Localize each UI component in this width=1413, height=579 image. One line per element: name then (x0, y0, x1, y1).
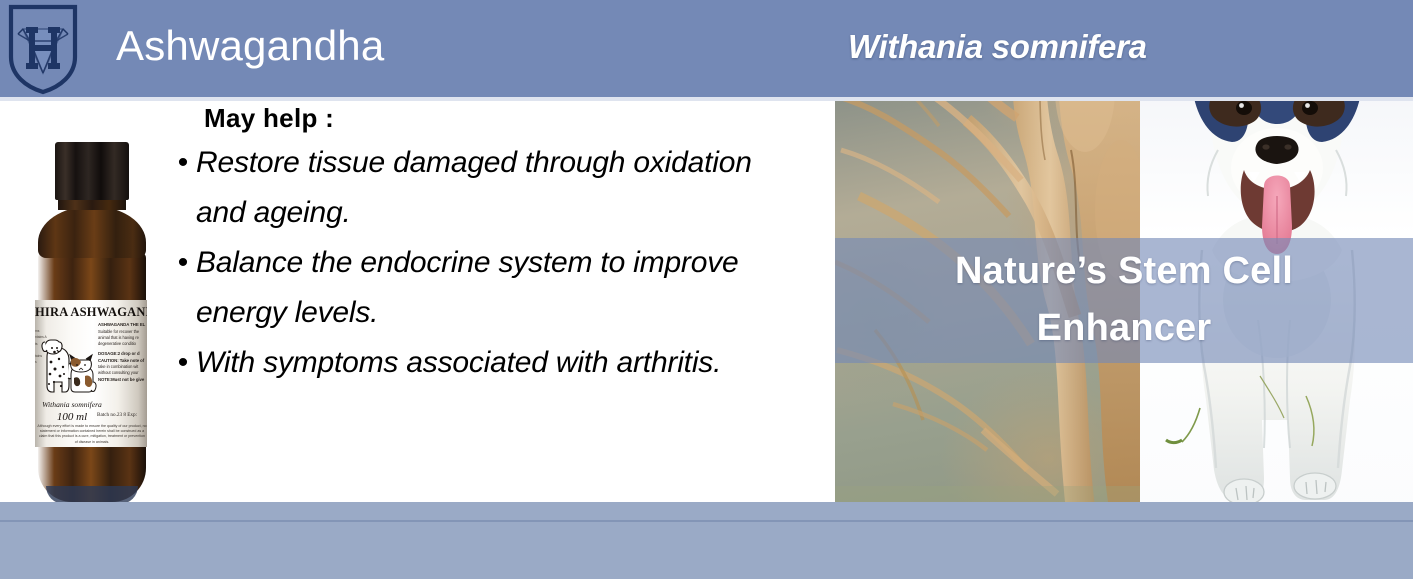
label-directions-line: ASHWAGANDA THE EL (98, 322, 147, 329)
bullet-dot-icon: • (170, 238, 196, 288)
tagline-line-2: Enhancer (835, 300, 1413, 357)
bullet-dot-icon: • (170, 138, 196, 188)
list-item: • Restore tissue damaged through oxidati… (170, 138, 790, 238)
page-title: Ashwagandha (116, 22, 384, 70)
list-item-label: With symptoms associated with arthritis. (196, 338, 790, 388)
label-species: Withania somnifera (37, 400, 107, 409)
product-bottle: HIRA ASHWAGANDA ms ntains A ts tains s (36, 142, 148, 502)
label-directions-block: ASHWAGANDA THE EL Suitable for recover t… (98, 322, 147, 383)
header-underline (0, 97, 1413, 101)
shield-logo-graphic (6, 3, 80, 95)
may-help-heading: May help : (204, 104, 790, 134)
label-directions-line: NOTE:Must not be give (98, 377, 147, 384)
bottle-cap (55, 142, 129, 200)
species-caption: Withania somnifera (848, 28, 1147, 66)
poster-slide: Nature’s Stem Cell Enhancer Ashwagandha … (0, 0, 1413, 579)
list-item-label: Restore tissue damaged through oxidation… (196, 138, 790, 238)
footer-hairline (0, 520, 1413, 522)
dog-and-cat-illustration-icon (41, 324, 97, 402)
benefits-list: • Restore tissue damaged through oxidati… (170, 138, 790, 388)
label-fineprint: Although every effort is made to ensure … (37, 424, 147, 445)
label-batch: Batch no.23 8 Exp: (97, 412, 137, 418)
tagline-line-1: Nature’s Stem Cell (835, 243, 1413, 300)
footer-band (0, 502, 1413, 579)
list-item: • Balance the endocrine system to improv… (170, 238, 790, 338)
hira-shield-logo-icon (6, 3, 80, 95)
benefits-block: May help : • Restore tissue damaged thro… (170, 104, 790, 388)
bullet-dot-icon: • (170, 338, 196, 388)
tagline: Nature’s Stem Cell Enhancer (835, 243, 1413, 357)
list-item-label: Balance the endocrine system to improve … (196, 238, 790, 338)
bottle-shoulder (38, 206, 146, 258)
bottle-label: HIRA ASHWAGANDA ms ntains A ts tains s (35, 300, 147, 447)
label-brand: HIRA ASHWAGANDA (35, 305, 147, 320)
list-item: • With symptoms associated with arthriti… (170, 338, 790, 388)
pets-artwork (41, 324, 97, 402)
